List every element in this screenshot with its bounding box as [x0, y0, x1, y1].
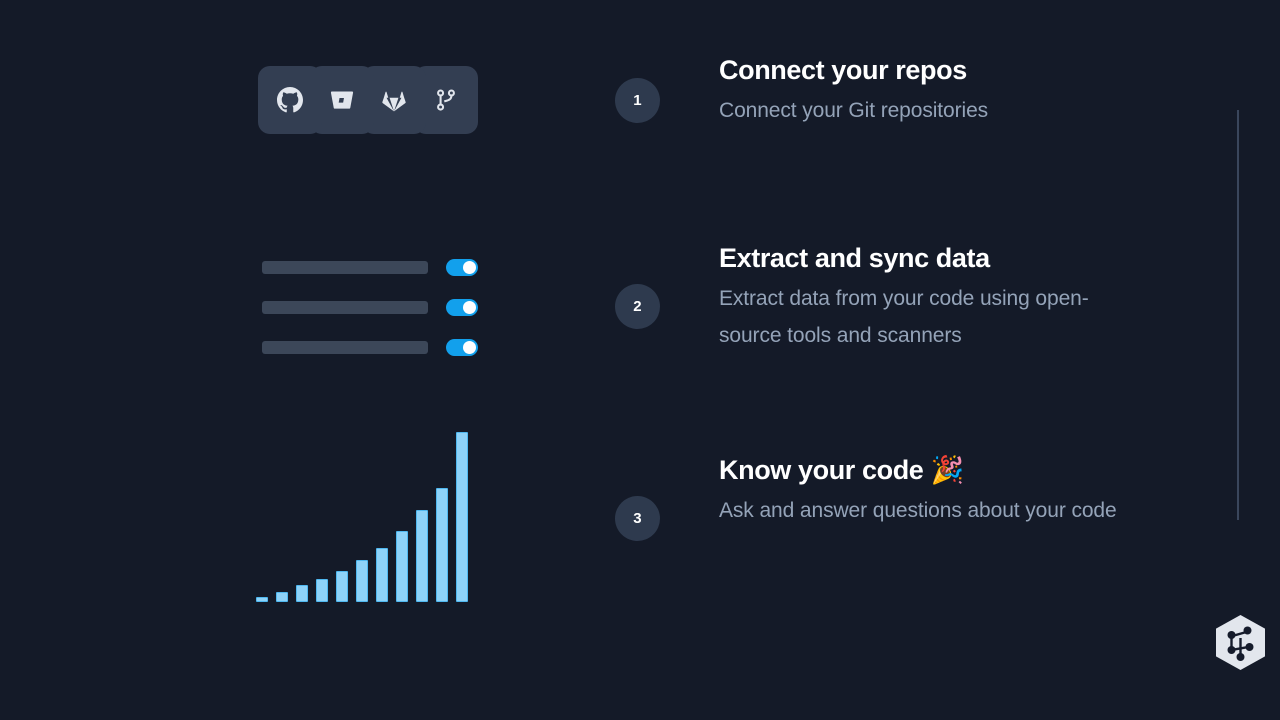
step-badge-2: 2 [615, 284, 660, 329]
git-branch-icon [433, 87, 459, 113]
step-text-1: Connect your repos Connect your Git repo… [719, 56, 1149, 129]
toggle-knob [463, 341, 476, 354]
step-description-1: Connect your Git repositories [719, 92, 1149, 130]
chart-bar [336, 571, 348, 602]
toggle-knob [463, 261, 476, 274]
steps-column: 1 Connect your repos Connect your Git re… [600, 0, 1280, 720]
illustration-column [0, 0, 560, 720]
toggle-row [262, 338, 478, 356]
chart-bar [316, 579, 328, 602]
chart-bar [416, 510, 428, 602]
chart-bar [256, 597, 268, 602]
chart-bar [376, 548, 388, 602]
chart-bar [456, 432, 468, 602]
setting-label-placeholder [262, 301, 428, 314]
toggle-switch-2[interactable] [446, 299, 478, 316]
step-description-3: Ask and answer questions about your code [719, 492, 1119, 530]
github-icon [277, 87, 303, 113]
gitlab-icon [381, 87, 407, 113]
provider-tile-github[interactable] [258, 66, 322, 134]
step-title-2: Extract and sync data [719, 244, 1149, 274]
chart-bar [296, 585, 308, 602]
chart-bar [276, 592, 288, 602]
step-badge-3: 3 [615, 496, 660, 541]
chart-bar [356, 560, 368, 602]
provider-tile-group [258, 66, 478, 134]
step-item-2: 2 Extract and sync data Extract data fro… [600, 244, 1280, 355]
slide-canvas: 1 Connect your repos Connect your Git re… [0, 0, 1280, 720]
step-text-2: Extract and sync data Extract data from … [719, 244, 1149, 355]
settings-toggle-list [262, 258, 478, 356]
setting-label-placeholder [262, 261, 428, 274]
step-item-3: 3 Know your code 🎉 Ask and answer questi… [600, 456, 1280, 529]
chart-bar [396, 531, 408, 602]
bitbucket-icon [329, 87, 355, 113]
toggle-switch-3[interactable] [446, 339, 478, 356]
toggle-knob [463, 301, 476, 314]
toggle-switch-1[interactable] [446, 259, 478, 276]
setting-label-placeholder [262, 341, 428, 354]
toggle-row [262, 258, 478, 276]
step-text-3: Know your code 🎉 Ask and answer question… [719, 456, 1149, 529]
growth-bar-chart [256, 420, 482, 602]
toggle-row [262, 298, 478, 316]
step-badge-1: 1 [615, 78, 660, 123]
step-item-1: 1 Connect your repos Connect your Git re… [600, 56, 1280, 129]
step-title-3: Know your code 🎉 [719, 456, 1149, 486]
step-description-2: Extract data from your code using open-s… [719, 280, 1119, 356]
step-title-1: Connect your repos [719, 56, 1149, 86]
chart-bar [436, 488, 448, 602]
hexagon-graph-logo [1213, 614, 1268, 671]
